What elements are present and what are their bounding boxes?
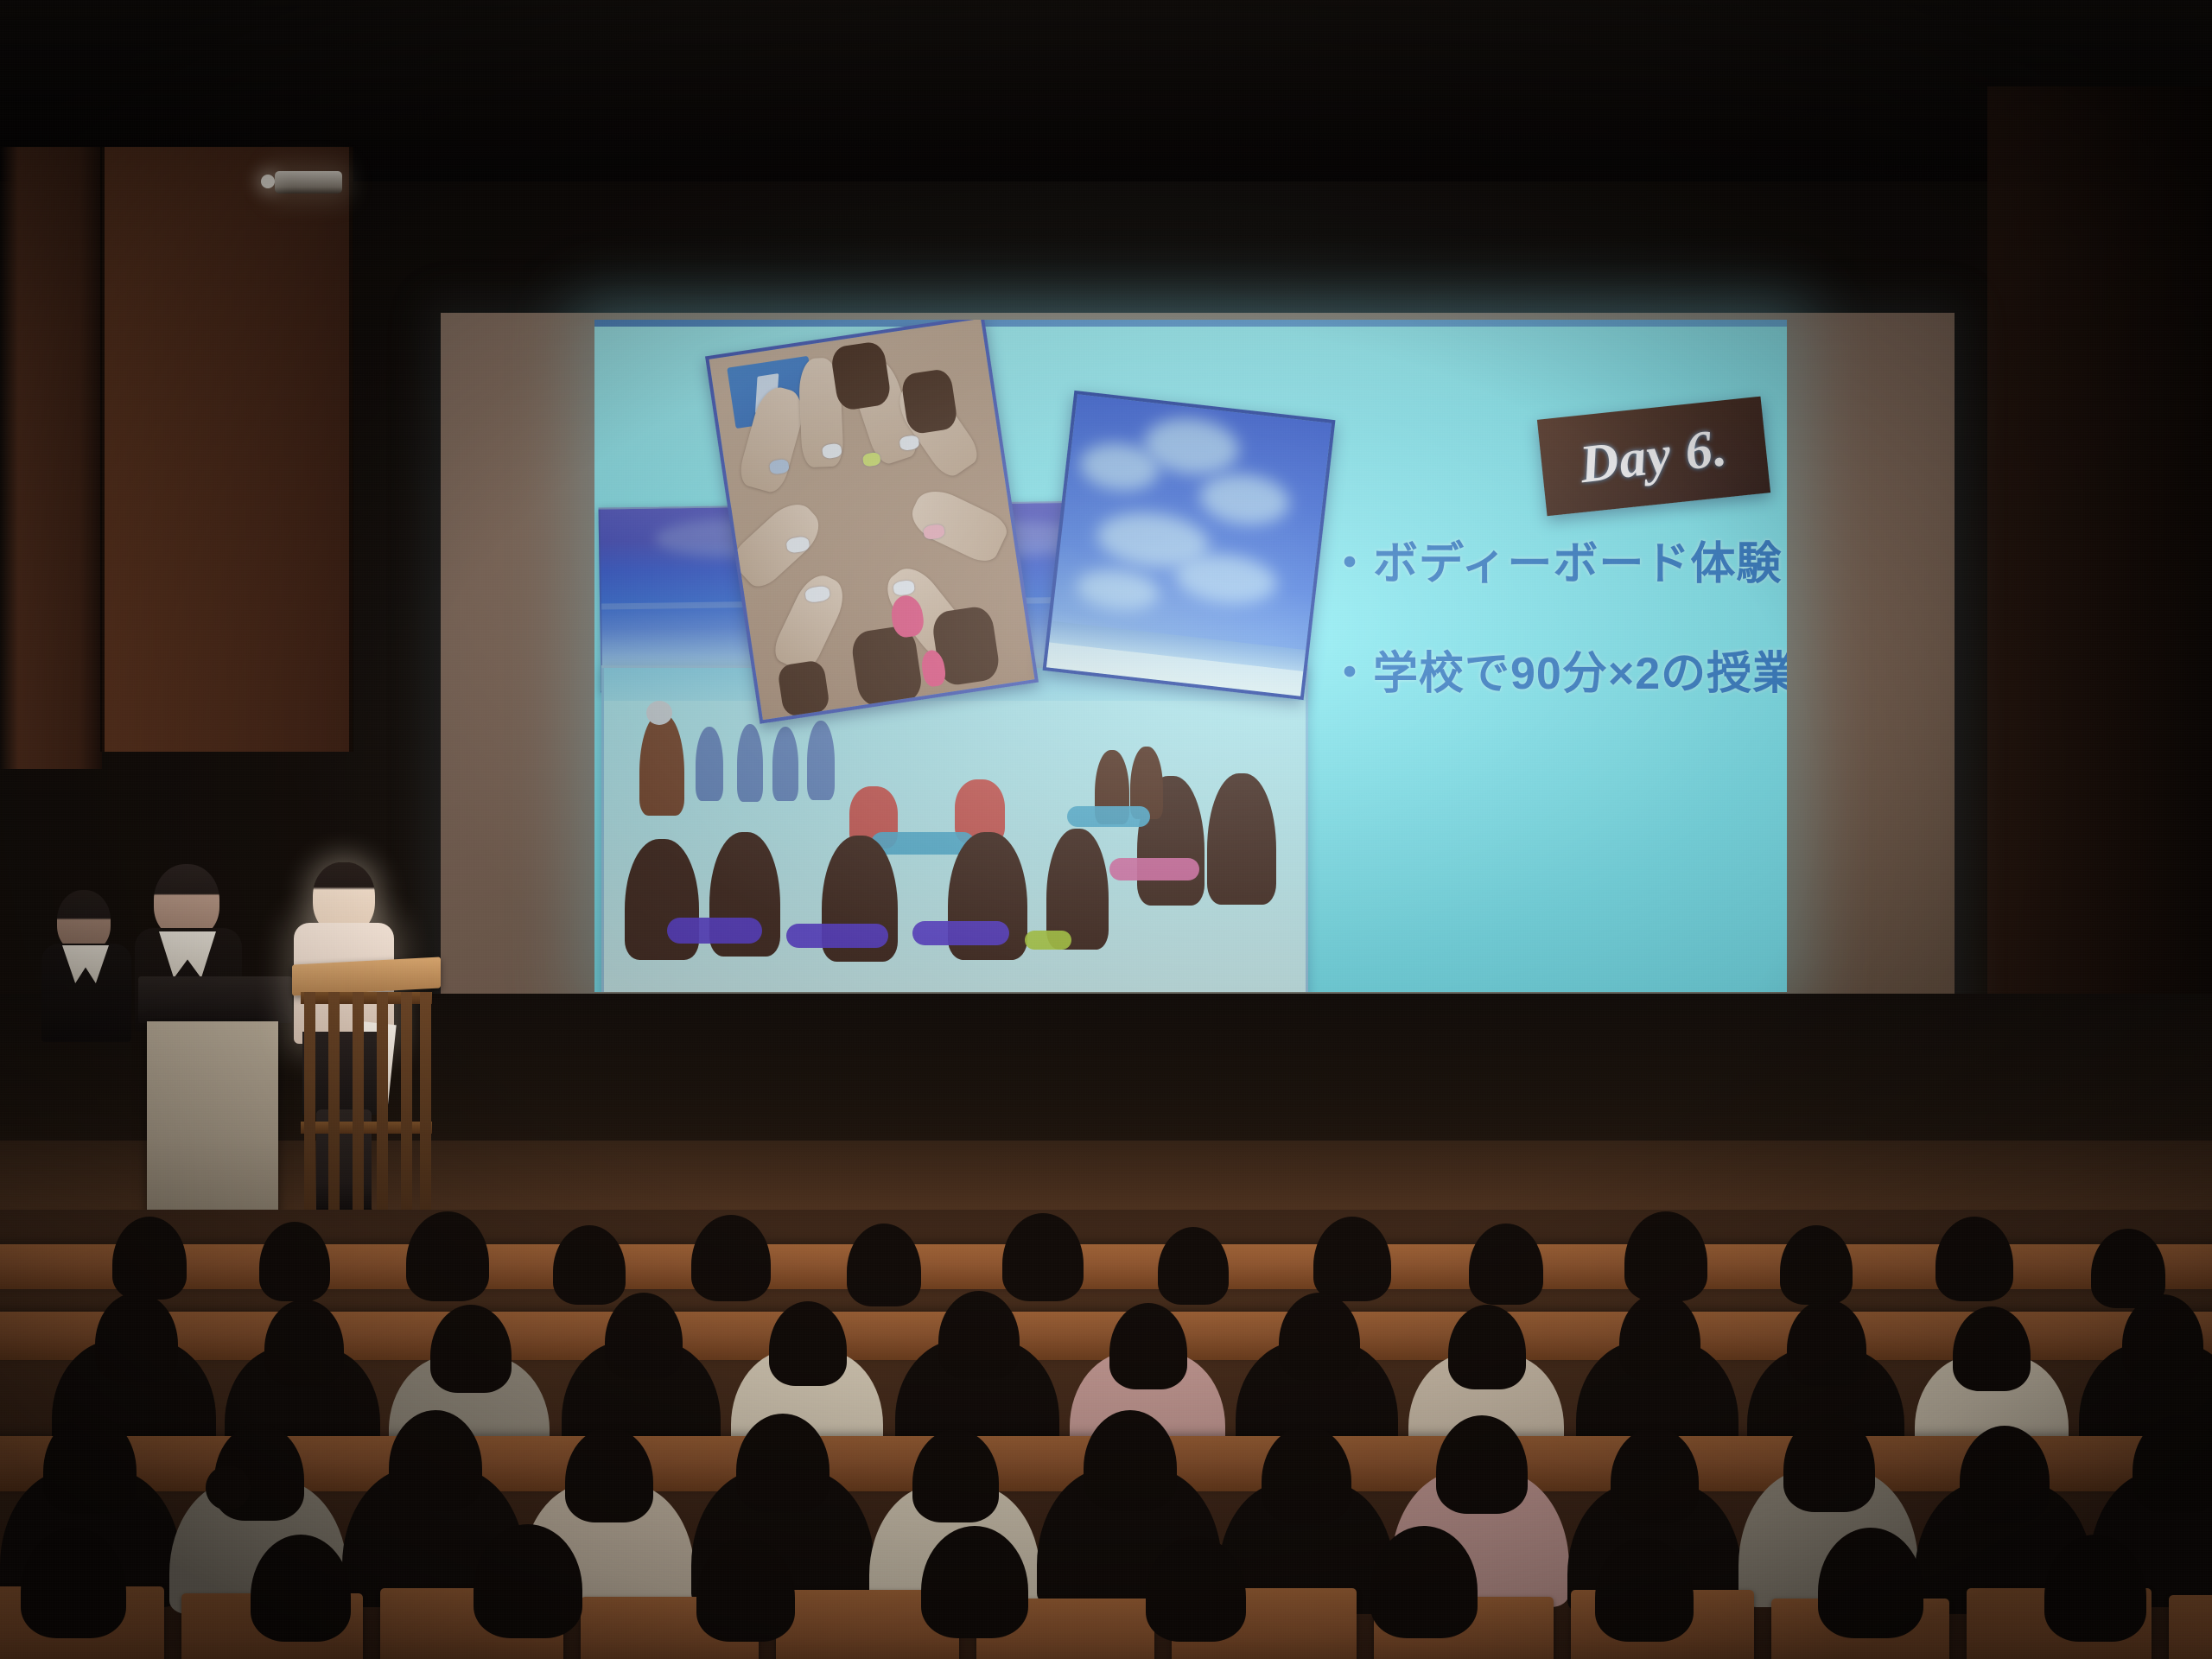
- audience-head: [1313, 1217, 1391, 1301]
- fingernail: [899, 435, 919, 452]
- lectern-rail: [301, 1122, 432, 1134]
- wall-panel-seam-2: [349, 147, 353, 752]
- lectern-slat: [377, 992, 388, 1229]
- beach-figure: [737, 724, 763, 802]
- wall-panel-left-outer: [0, 147, 102, 769]
- beach-figure: [772, 727, 798, 801]
- lectern-slat: [353, 992, 364, 1229]
- audience-head: [1002, 1213, 1084, 1301]
- auditorium-chair[interactable]: [2169, 1595, 2212, 1659]
- day-badge-label: Day 6.: [1577, 416, 1732, 495]
- beach-figure: [696, 727, 723, 801]
- dark-shadow-area: [829, 340, 892, 411]
- projection-screen: Day 6. ・ボディーボード体験 ・学校で90分×2の授業: [441, 313, 1955, 1032]
- presenter-standing-back: [41, 890, 131, 1042]
- slide-bullet-item: ・ボディーボード体験: [1327, 541, 1777, 588]
- dark-shadow-area: [850, 624, 925, 709]
- slide-top-accent-line: [594, 320, 1787, 327]
- wall-panel-seam-1: [100, 147, 105, 752]
- cloud-shape: [1173, 550, 1280, 609]
- presentation-slide: Day 6. ・ボディーボード体験 ・学校で90分×2の授業: [594, 320, 1787, 992]
- bodyboard: [786, 924, 888, 948]
- podium-monitor: [138, 976, 292, 1023]
- lectern-slat: [304, 992, 315, 1229]
- audience-head: [1619, 1293, 1700, 1381]
- audience-head: [1279, 1293, 1360, 1381]
- cloud-shape: [1197, 469, 1292, 529]
- seat-row: [0, 1244, 2212, 1289]
- lectern-slat: [420, 992, 431, 1229]
- podium: [147, 1021, 278, 1225]
- audience-head: [1469, 1224, 1543, 1305]
- audience-head: [1935, 1217, 2013, 1301]
- audience-head: [605, 1293, 683, 1379]
- beach-figure: [639, 714, 684, 816]
- lectern-slat: [328, 992, 340, 1229]
- audience-head: [691, 1215, 771, 1301]
- audience-head: [406, 1211, 489, 1301]
- bodyboard: [1109, 858, 1199, 880]
- auditorium-presentation-photo: Day 6. ・ボディーボード体験 ・学校で90分×2の授業: [0, 0, 2212, 1659]
- hands-circle-photo: [705, 320, 1039, 724]
- audience-head: [847, 1224, 921, 1306]
- audience-head: [2122, 1294, 2203, 1382]
- fingernail: [862, 452, 881, 467]
- audience-head: [1780, 1225, 1853, 1305]
- bodyboard: [1025, 931, 1071, 950]
- hand-shape: [769, 569, 851, 675]
- bodyboard: [667, 918, 762, 944]
- wall-panel-right: [1987, 86, 2212, 1002]
- audience-head: [112, 1217, 187, 1300]
- day-number-badge: Day 6.: [1537, 397, 1770, 517]
- beach-figure: [807, 721, 835, 800]
- audience-head: [1158, 1227, 1229, 1305]
- hair-bun: [206, 1465, 251, 1510]
- beach-group-photo: [601, 665, 1308, 992]
- bodyboard: [912, 921, 1009, 945]
- lectern-rail: [301, 992, 432, 1004]
- light-bulb-icon: [261, 175, 275, 188]
- cloud-shape: [1074, 566, 1161, 615]
- audience-head: [553, 1225, 626, 1305]
- lectern-slat: [401, 992, 412, 1229]
- beach-figure-head: [646, 701, 672, 725]
- bodyboard: [1067, 806, 1150, 827]
- fingernail: [786, 537, 810, 555]
- slide-bullet-item: ・学校で90分×2の授業: [1327, 651, 1777, 698]
- audience-head: [938, 1291, 1020, 1379]
- dark-shadow-area: [900, 367, 959, 435]
- dark-shadow-area: [777, 659, 830, 717]
- audience-head: [259, 1222, 330, 1301]
- audience-head: [95, 1293, 178, 1382]
- audience-area: [0, 1210, 2212, 1659]
- audience-head: [1624, 1211, 1707, 1301]
- hand-shape: [905, 483, 1011, 568]
- lectern-stand: [301, 992, 432, 1229]
- blue-sky-photo: [1043, 391, 1336, 700]
- slide-bullet-list: ・ボディーボード体験 ・学校で90分×2の授業: [1327, 541, 1777, 697]
- wall-panel-left-inner: [102, 147, 353, 752]
- ceiling-light-fixture: [275, 171, 342, 194]
